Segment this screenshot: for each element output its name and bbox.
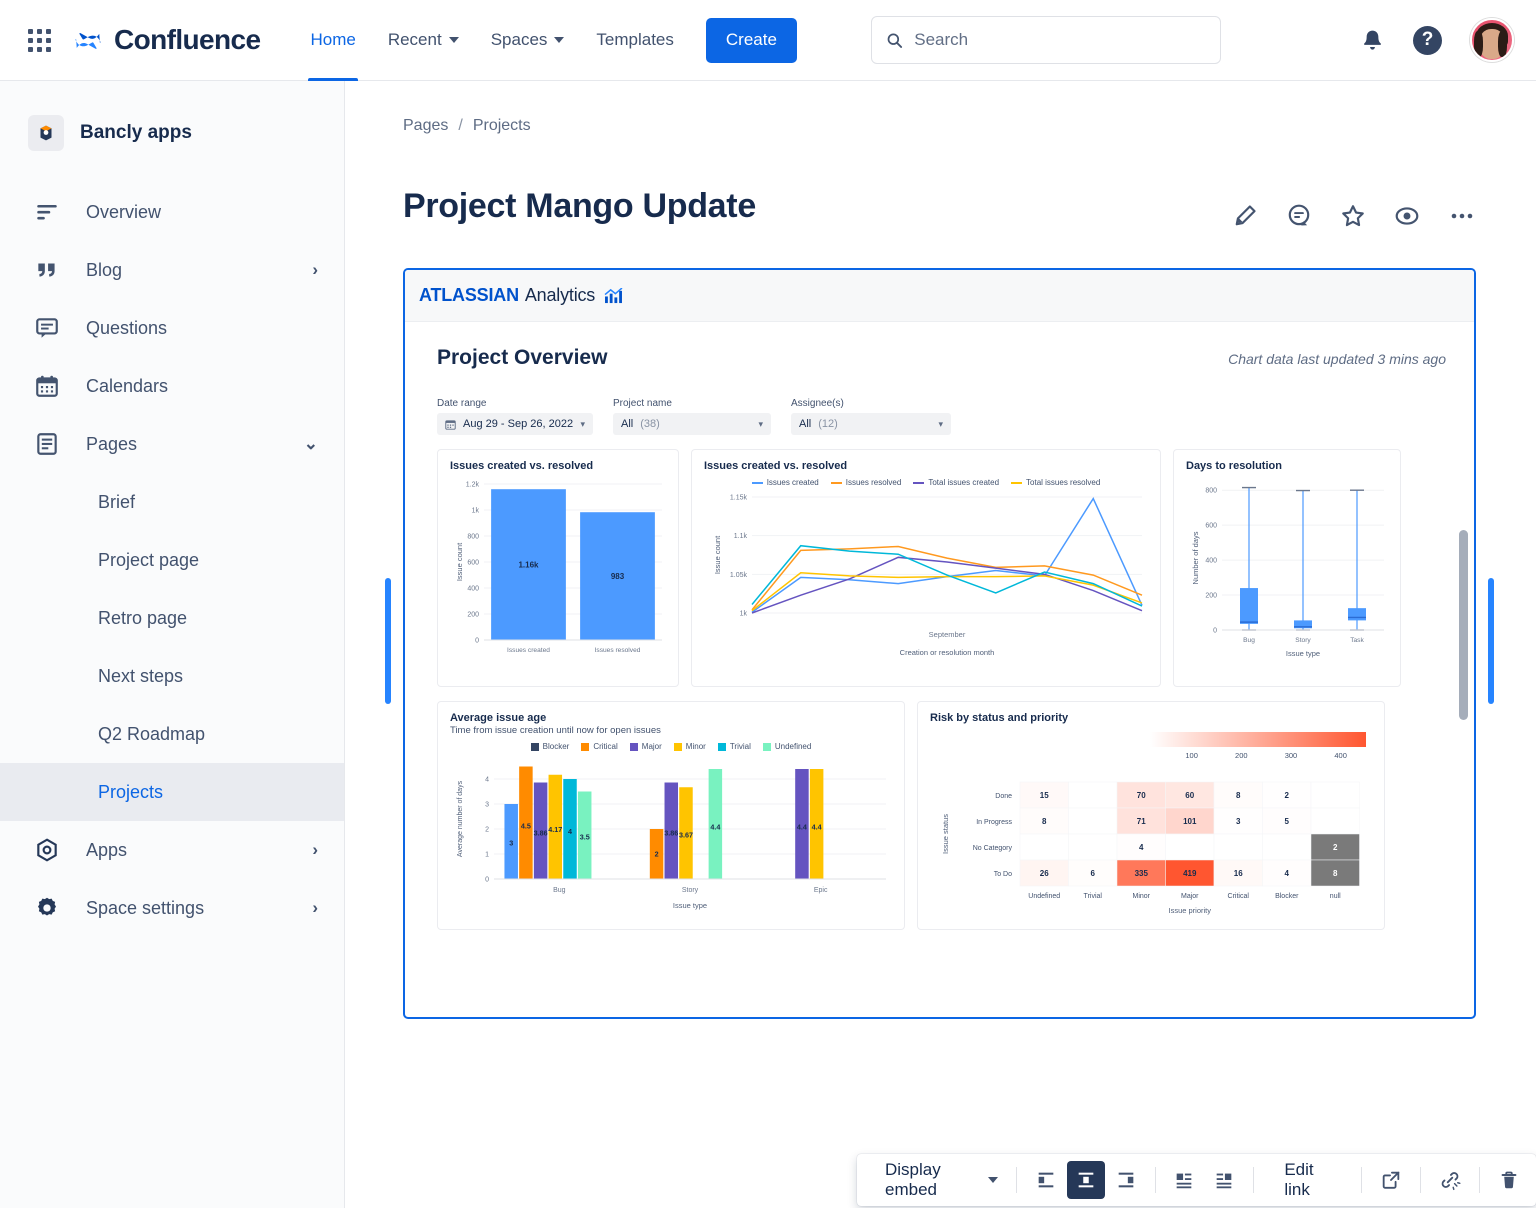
svg-text:Story: Story bbox=[682, 887, 699, 894]
watch-eye-icon[interactable] bbox=[1394, 203, 1420, 229]
main-content: Pages / Projects Project Mango Update bbox=[345, 81, 1536, 1208]
filter-date-range: Date range Aug 29 - Sep 26, 2022 ▾ bbox=[437, 398, 593, 435]
sidebar-nav-list: Overview Blog › Questions Calendars bbox=[0, 183, 344, 937]
svg-text:0: 0 bbox=[475, 638, 479, 645]
sidebar-item-apps-label: Apps bbox=[86, 840, 312, 861]
legend-swatch bbox=[831, 482, 842, 484]
legend-item: Total issues created bbox=[913, 478, 999, 487]
svg-text:3.86: 3.86 bbox=[664, 829, 678, 838]
svg-text:335: 335 bbox=[1135, 869, 1149, 878]
svg-text:8: 8 bbox=[1333, 869, 1338, 878]
svg-text:Done: Done bbox=[995, 793, 1012, 800]
svg-text:26: 26 bbox=[1040, 869, 1049, 878]
svg-text:Issue status: Issue status bbox=[941, 814, 950, 854]
filter-assignees-count: (12) bbox=[818, 418, 838, 430]
sidebar-subitem-projects[interactable]: Projects bbox=[0, 763, 344, 821]
chart-card-average-issue-age[interactable]: Average issue age Time from issue creati… bbox=[437, 701, 905, 930]
filter-project-name-value: All bbox=[621, 418, 633, 430]
svg-text:4.4: 4.4 bbox=[710, 823, 720, 832]
nav-link-recent-label: Recent bbox=[388, 30, 442, 50]
notifications-bell-icon[interactable] bbox=[1360, 28, 1385, 53]
svg-text:0: 0 bbox=[485, 877, 489, 884]
user-avatar[interactable] bbox=[1470, 18, 1514, 62]
sidebar-subitem-brief[interactable]: Brief bbox=[0, 473, 344, 531]
breadcrumb-pages[interactable]: Pages bbox=[403, 117, 448, 135]
edit-pencil-icon[interactable] bbox=[1232, 203, 1258, 229]
charts-row-top: Issues created vs. resolved 020040060080… bbox=[421, 435, 1458, 687]
nav-link-recent[interactable]: Recent bbox=[374, 0, 473, 81]
svg-text:400: 400 bbox=[1205, 558, 1217, 565]
svg-text:Average number of days: Average number of days bbox=[457, 780, 464, 857]
align-right-icon[interactable] bbox=[1107, 1161, 1145, 1199]
chart-card-risk-by-status-and-priority[interactable]: Risk by status and priority 15706082Done… bbox=[917, 701, 1385, 930]
svg-text:null: null bbox=[1330, 893, 1341, 900]
legend-label: Issues created bbox=[767, 478, 819, 487]
svg-text:4: 4 bbox=[568, 827, 572, 836]
svg-text:100: 100 bbox=[1185, 751, 1198, 760]
svg-text:200: 200 bbox=[1205, 593, 1217, 600]
svg-text:3: 3 bbox=[485, 802, 489, 809]
svg-text:1.05k: 1.05k bbox=[730, 572, 748, 579]
svg-text:4.4: 4.4 bbox=[797, 823, 807, 832]
star-icon[interactable] bbox=[1340, 203, 1366, 229]
filter-assignees-label: Assignee(s) bbox=[791, 398, 951, 409]
svg-text:4.4: 4.4 bbox=[812, 823, 822, 832]
more-ellipsis-icon[interactable] bbox=[1448, 203, 1476, 229]
grouped-bar-chart-average-issue-age: 0123434.53.864.1743.5Bug23.863.674.4Stor… bbox=[450, 751, 894, 921]
nav-link-spaces[interactable]: Spaces bbox=[477, 0, 579, 81]
page-action-bar bbox=[1232, 203, 1476, 229]
filter-date-range-control[interactable]: Aug 29 - Sep 26, 2022 ▾ bbox=[437, 413, 593, 435]
chevron-down-icon: ▾ bbox=[580, 419, 585, 430]
calendar-icon bbox=[34, 373, 66, 399]
svg-text:To Do: To Do bbox=[994, 871, 1012, 878]
svg-text:Number of days: Number of days bbox=[1191, 531, 1200, 584]
sidebar-subitem-q2-roadmap[interactable]: Q2 Roadmap bbox=[0, 705, 344, 763]
delete-trash-icon[interactable] bbox=[1490, 1161, 1528, 1199]
svg-text:3: 3 bbox=[509, 838, 513, 847]
heatmap-risk-by-status-and-priority: 15706082Done87110135In Progress42No Cate… bbox=[930, 724, 1374, 924]
sidebar-item-blog[interactable]: Blog › bbox=[0, 241, 344, 299]
breadcrumb-projects[interactable]: Projects bbox=[473, 117, 531, 135]
svg-text:Issue priority: Issue priority bbox=[1168, 906, 1211, 915]
quote-icon bbox=[34, 257, 66, 283]
wrap-right-icon[interactable] bbox=[1205, 1161, 1243, 1199]
dashboard-body: Project Overview Chart data last updated… bbox=[405, 322, 1474, 1019]
filter-project-name-count: (38) bbox=[640, 418, 660, 430]
legend-label: Critical bbox=[593, 742, 617, 751]
toolbar-divider bbox=[1253, 1167, 1254, 1193]
gear-icon bbox=[34, 895, 66, 921]
svg-text:Epic: Epic bbox=[814, 887, 828, 894]
svg-text:3: 3 bbox=[1236, 817, 1241, 826]
filter-assignees-control[interactable]: All (12) ▾ bbox=[791, 413, 951, 435]
svg-text:Minor: Minor bbox=[1132, 893, 1150, 900]
sidebar-subitem-retro-page[interactable]: Retro page bbox=[0, 589, 344, 647]
nav-link-home-label: Home bbox=[310, 30, 355, 50]
atlassian-analytics-embed[interactable]: ATLASSIAN Analytics Project Overview Cha bbox=[403, 268, 1476, 1019]
svg-text:2: 2 bbox=[655, 850, 659, 859]
sidebar-item-overview[interactable]: Overview bbox=[0, 183, 344, 241]
wrap-left-icon[interactable] bbox=[1165, 1161, 1203, 1199]
svg-text:4.5: 4.5 bbox=[521, 821, 531, 830]
chevron-right-icon[interactable]: › bbox=[312, 898, 318, 918]
legend-swatch bbox=[718, 743, 726, 751]
filter-project-name-control[interactable]: All (38) ▾ bbox=[613, 413, 771, 435]
legend-label: Undefined bbox=[775, 742, 811, 751]
legend-label: Total issues created bbox=[928, 478, 999, 487]
svg-text:8: 8 bbox=[1236, 791, 1241, 800]
sidebar-item-calendars-label: Calendars bbox=[86, 376, 318, 397]
edit-link-label: Edit link bbox=[1272, 1160, 1343, 1200]
chart-title: Average issue age bbox=[450, 712, 892, 724]
embed-title-bar: ATLASSIAN Analytics bbox=[405, 270, 1474, 322]
sidebar-item-questions-label: Questions bbox=[86, 318, 318, 339]
space-name-label: Bancly apps bbox=[80, 122, 192, 144]
legend-swatch bbox=[763, 743, 771, 751]
bar-chart-issues-created-vs-resolved: 02004006008001k1.2k1.16kIssues created98… bbox=[450, 472, 668, 677]
legend-item: Trivial bbox=[718, 742, 751, 751]
sidebar-item-pages[interactable]: Pages ⌄ bbox=[0, 415, 344, 473]
line-chart-issues-created-vs-resolved: 1k1.05k1.1k1.15kSeptemberCreation or res… bbox=[704, 487, 1150, 673]
legend-swatch bbox=[913, 482, 924, 484]
svg-text:400: 400 bbox=[467, 586, 479, 593]
svg-text:600: 600 bbox=[1205, 523, 1217, 530]
chevron-down-icon[interactable]: ⌄ bbox=[304, 434, 318, 454]
open-external-icon[interactable] bbox=[1372, 1161, 1410, 1199]
legend-label: Major bbox=[642, 742, 662, 751]
svg-text:September: September bbox=[929, 630, 966, 639]
chart-updated-label: Chart data last updated 3 mins ago bbox=[1228, 351, 1446, 367]
legend-item: Major bbox=[630, 742, 662, 751]
svg-text:Issue type: Issue type bbox=[1286, 649, 1320, 658]
dashboard-header: Project Overview Chart data last updated… bbox=[421, 340, 1458, 370]
svg-text:101: 101 bbox=[1183, 817, 1197, 826]
svg-text:Bug: Bug bbox=[553, 887, 566, 894]
nav-link-spaces-label: Spaces bbox=[491, 30, 548, 50]
svg-text:Issue count: Issue count bbox=[713, 535, 722, 574]
toolbar-divider bbox=[1479, 1167, 1480, 1193]
search-icon bbox=[886, 31, 903, 50]
svg-text:1.1k: 1.1k bbox=[734, 533, 748, 540]
dashboard-filters: Date range Aug 29 - Sep 26, 2022 ▾ Proje… bbox=[421, 370, 1458, 435]
svg-text:Trivial: Trivial bbox=[1084, 893, 1103, 900]
legend-swatch bbox=[1011, 482, 1022, 484]
toolbar-divider bbox=[1155, 1167, 1156, 1193]
chevron-right-icon[interactable]: › bbox=[312, 840, 318, 860]
svg-text:3.5: 3.5 bbox=[580, 833, 590, 842]
sidebar-item-overview-label: Overview bbox=[86, 202, 318, 223]
nav-link-templates-label: Templates bbox=[596, 30, 673, 50]
filter-project-name-label: Project name bbox=[613, 398, 771, 409]
legend-item: Minor bbox=[674, 742, 706, 751]
sidebar-item-blog-label: Blog bbox=[86, 260, 312, 281]
embed-vertical-scrollbar[interactable] bbox=[1459, 530, 1468, 720]
svg-text:3.86: 3.86 bbox=[534, 829, 548, 838]
svg-text:4: 4 bbox=[485, 777, 489, 784]
box-plot-days-to-resolution: 0200400600800BugStoryTaskIssue typeNumbe… bbox=[1186, 472, 1390, 677]
chart-title: Days to resolution bbox=[1186, 460, 1388, 472]
top-navigation-bar: Confluence Home Recent Spaces Templates … bbox=[0, 0, 1536, 81]
nav-link-templates[interactable]: Templates bbox=[582, 0, 687, 81]
legend-label: Blocker bbox=[543, 742, 570, 751]
chart-card-issues-created-vs-resolved-bar[interactable]: Issues created vs. resolved 020040060080… bbox=[437, 449, 679, 687]
charts-row-bottom: Average issue age Time from issue creati… bbox=[421, 687, 1458, 930]
top-right-actions: ? bbox=[1360, 18, 1514, 62]
svg-text:Issue count: Issue count bbox=[455, 542, 464, 581]
confluence-logo-icon bbox=[73, 25, 103, 55]
sidebar-subitem-project-page[interactable]: Project page bbox=[0, 531, 344, 589]
svg-text:Issues created: Issues created bbox=[507, 647, 550, 654]
search-box[interactable] bbox=[871, 16, 1221, 64]
sidebar-item-questions[interactable]: Questions bbox=[0, 299, 344, 357]
svg-text:16: 16 bbox=[1234, 869, 1243, 878]
svg-text:No Category: No Category bbox=[973, 845, 1013, 852]
embed-container: ATLASSIAN Analytics Project Overview Cha bbox=[403, 268, 1476, 1019]
svg-text:2: 2 bbox=[1333, 843, 1338, 852]
sidebar-item-space-settings[interactable]: Space settings › bbox=[0, 879, 344, 937]
svg-text:1k: 1k bbox=[472, 508, 480, 515]
svg-text:15: 15 bbox=[1040, 791, 1049, 800]
svg-text:Undefined: Undefined bbox=[1028, 893, 1060, 900]
legend-label: Total issues resolved bbox=[1026, 478, 1100, 487]
svg-text:8: 8 bbox=[1042, 817, 1047, 826]
legend-swatch bbox=[752, 482, 763, 484]
legend-item: Critical bbox=[581, 742, 617, 751]
chevron-down-icon bbox=[449, 37, 459, 43]
chevron-right-icon[interactable]: › bbox=[312, 260, 318, 280]
svg-text:4: 4 bbox=[1139, 843, 1144, 852]
svg-text:1.16k: 1.16k bbox=[518, 561, 539, 570]
chart-subtitle: Time from issue creation until now for o… bbox=[450, 725, 892, 736]
space-header[interactable]: Bancly apps bbox=[0, 101, 344, 165]
sidebar-item-space-settings-label: Space settings bbox=[86, 898, 312, 919]
filter-date-range-label: Date range bbox=[437, 398, 593, 409]
breadcrumb-separator: / bbox=[458, 117, 462, 135]
chevron-down-icon bbox=[988, 1177, 998, 1183]
chart-card-days-to-resolution[interactable]: Days to resolution 0200400600800BugStory… bbox=[1173, 449, 1401, 687]
comment-icon[interactable] bbox=[1286, 203, 1312, 229]
align-left-icon[interactable] bbox=[1027, 1161, 1065, 1199]
analytics-product-label: Analytics bbox=[525, 285, 595, 306]
legend-label: Issues resolved bbox=[846, 478, 902, 487]
svg-text:419: 419 bbox=[1183, 869, 1197, 878]
chart-legend: BlockerCriticalMajorMinorTrivialUndefine… bbox=[450, 742, 892, 751]
legend-label: Minor bbox=[686, 742, 706, 751]
apps-icon bbox=[34, 837, 66, 863]
toolbar-divider bbox=[1361, 1167, 1362, 1193]
svg-text:1.2k: 1.2k bbox=[466, 482, 480, 489]
create-button[interactable]: Create bbox=[706, 18, 797, 63]
legend-item: Blocker bbox=[531, 742, 570, 751]
svg-text:Issues resolved: Issues resolved bbox=[595, 647, 641, 654]
display-embed-dropdown[interactable]: Display embed bbox=[865, 1161, 1006, 1199]
svg-text:300: 300 bbox=[1285, 751, 1298, 760]
svg-text:Bug: Bug bbox=[1243, 637, 1255, 644]
chart-title: Issues created vs. resolved bbox=[450, 460, 666, 472]
chart-title: Risk by status and priority bbox=[930, 712, 1372, 724]
svg-text:In Progress: In Progress bbox=[976, 819, 1012, 826]
legend-swatch bbox=[581, 743, 589, 751]
space-sidebar: Bancly apps Overview Blog › Quest bbox=[0, 81, 345, 1208]
svg-text:600: 600 bbox=[467, 560, 479, 567]
align-center-icon[interactable] bbox=[1067, 1161, 1105, 1199]
svg-text:Major: Major bbox=[1181, 893, 1199, 900]
toolbar-divider bbox=[1016, 1167, 1017, 1193]
dashboard-title: Project Overview bbox=[437, 346, 607, 370]
svg-text:400: 400 bbox=[1334, 751, 1347, 760]
svg-text:60: 60 bbox=[1185, 791, 1194, 800]
brand-name-label: Confluence bbox=[114, 24, 260, 56]
svg-text:Task: Task bbox=[1350, 637, 1364, 644]
app-switcher-grid-icon[interactable] bbox=[28, 29, 51, 52]
svg-text:Creation or resolution month: Creation or resolution month bbox=[900, 648, 995, 657]
svg-text:1k: 1k bbox=[740, 611, 748, 618]
comment-icon bbox=[34, 315, 66, 341]
analytics-chart-icon bbox=[604, 288, 623, 304]
svg-text:5: 5 bbox=[1285, 817, 1290, 826]
atlassian-brand-label: ATLASSIAN bbox=[419, 285, 519, 306]
svg-text:Blocker: Blocker bbox=[1275, 893, 1299, 900]
svg-text:2: 2 bbox=[1285, 791, 1290, 800]
search-input[interactable] bbox=[914, 30, 1206, 50]
unlink-icon[interactable] bbox=[1431, 1161, 1469, 1199]
chart-legend: Issues createdIssues resolvedTotal issue… bbox=[704, 478, 1148, 487]
svg-text:800: 800 bbox=[1205, 488, 1217, 495]
overview-icon bbox=[34, 199, 66, 225]
resize-handle-right[interactable] bbox=[1488, 578, 1494, 704]
svg-text:983: 983 bbox=[611, 572, 625, 581]
svg-text:6: 6 bbox=[1091, 869, 1096, 878]
sidebar-item-apps[interactable]: Apps › bbox=[0, 821, 344, 879]
legend-swatch bbox=[674, 743, 682, 751]
sidebar-item-calendars[interactable]: Calendars bbox=[0, 357, 344, 415]
legend-swatch bbox=[531, 743, 539, 751]
atlassian-analytics-logo: ATLASSIAN Analytics bbox=[419, 285, 623, 306]
display-embed-label: Display embed bbox=[873, 1160, 988, 1200]
breadcrumb: Pages / Projects bbox=[403, 117, 1490, 135]
svg-text:1: 1 bbox=[485, 852, 489, 859]
svg-text:71: 71 bbox=[1137, 817, 1146, 826]
filter-date-range-value: Aug 29 - Sep 26, 2022 bbox=[463, 418, 573, 430]
svg-text:4: 4 bbox=[1285, 869, 1290, 878]
sidebar-item-pages-label: Pages bbox=[86, 434, 304, 455]
svg-text:4.17: 4.17 bbox=[548, 825, 562, 834]
svg-text:200: 200 bbox=[467, 612, 479, 619]
legend-item: Issues resolved bbox=[831, 478, 902, 487]
svg-text:0: 0 bbox=[1213, 628, 1217, 635]
filter-assignees: Assignee(s) All (12) ▾ bbox=[791, 398, 951, 435]
svg-text:Story: Story bbox=[1295, 637, 1311, 644]
legend-item: Total issues resolved bbox=[1011, 478, 1100, 487]
legend-label: Trivial bbox=[730, 742, 751, 751]
svg-text:800: 800 bbox=[467, 534, 479, 541]
edit-link-button[interactable]: Edit link bbox=[1264, 1161, 1351, 1199]
chevron-down-icon bbox=[554, 37, 564, 43]
primary-nav-links: Home Recent Spaces Templates bbox=[296, 0, 687, 81]
toolbar-divider bbox=[1420, 1167, 1421, 1193]
resize-handle-left[interactable] bbox=[385, 578, 391, 704]
chevron-down-icon: ▾ bbox=[758, 419, 763, 430]
calendar-icon bbox=[445, 419, 456, 430]
legend-item: Issues created bbox=[752, 478, 819, 487]
help-icon[interactable]: ? bbox=[1413, 26, 1442, 55]
filter-project-name: Project name All (38) ▾ bbox=[613, 398, 771, 435]
svg-text:3.67: 3.67 bbox=[679, 831, 693, 840]
legend-swatch bbox=[630, 743, 638, 751]
sidebar-subitem-next-steps[interactable]: Next steps bbox=[0, 647, 344, 705]
chart-title: Issues created vs. resolved bbox=[704, 460, 1148, 472]
confluence-home-logo[interactable]: Confluence bbox=[73, 24, 260, 56]
svg-text:2: 2 bbox=[485, 827, 489, 834]
space-logo-icon bbox=[28, 115, 64, 151]
svg-text:70: 70 bbox=[1137, 791, 1146, 800]
nav-link-home[interactable]: Home bbox=[296, 0, 369, 81]
embed-floating-toolbar: Display embed Edit link bbox=[857, 1154, 1536, 1206]
page-icon bbox=[34, 431, 66, 457]
svg-text:1.15k: 1.15k bbox=[730, 495, 748, 502]
svg-text:Critical: Critical bbox=[1228, 893, 1250, 900]
legend-item: Undefined bbox=[763, 742, 811, 751]
svg-text:200: 200 bbox=[1235, 751, 1248, 760]
svg-text:Issue type: Issue type bbox=[673, 901, 707, 910]
chevron-down-icon: ▾ bbox=[938, 419, 943, 430]
chart-card-issues-created-vs-resolved-line[interactable]: Issues created vs. resolved Issues creat… bbox=[691, 449, 1161, 687]
filter-assignees-value: All bbox=[799, 418, 811, 430]
